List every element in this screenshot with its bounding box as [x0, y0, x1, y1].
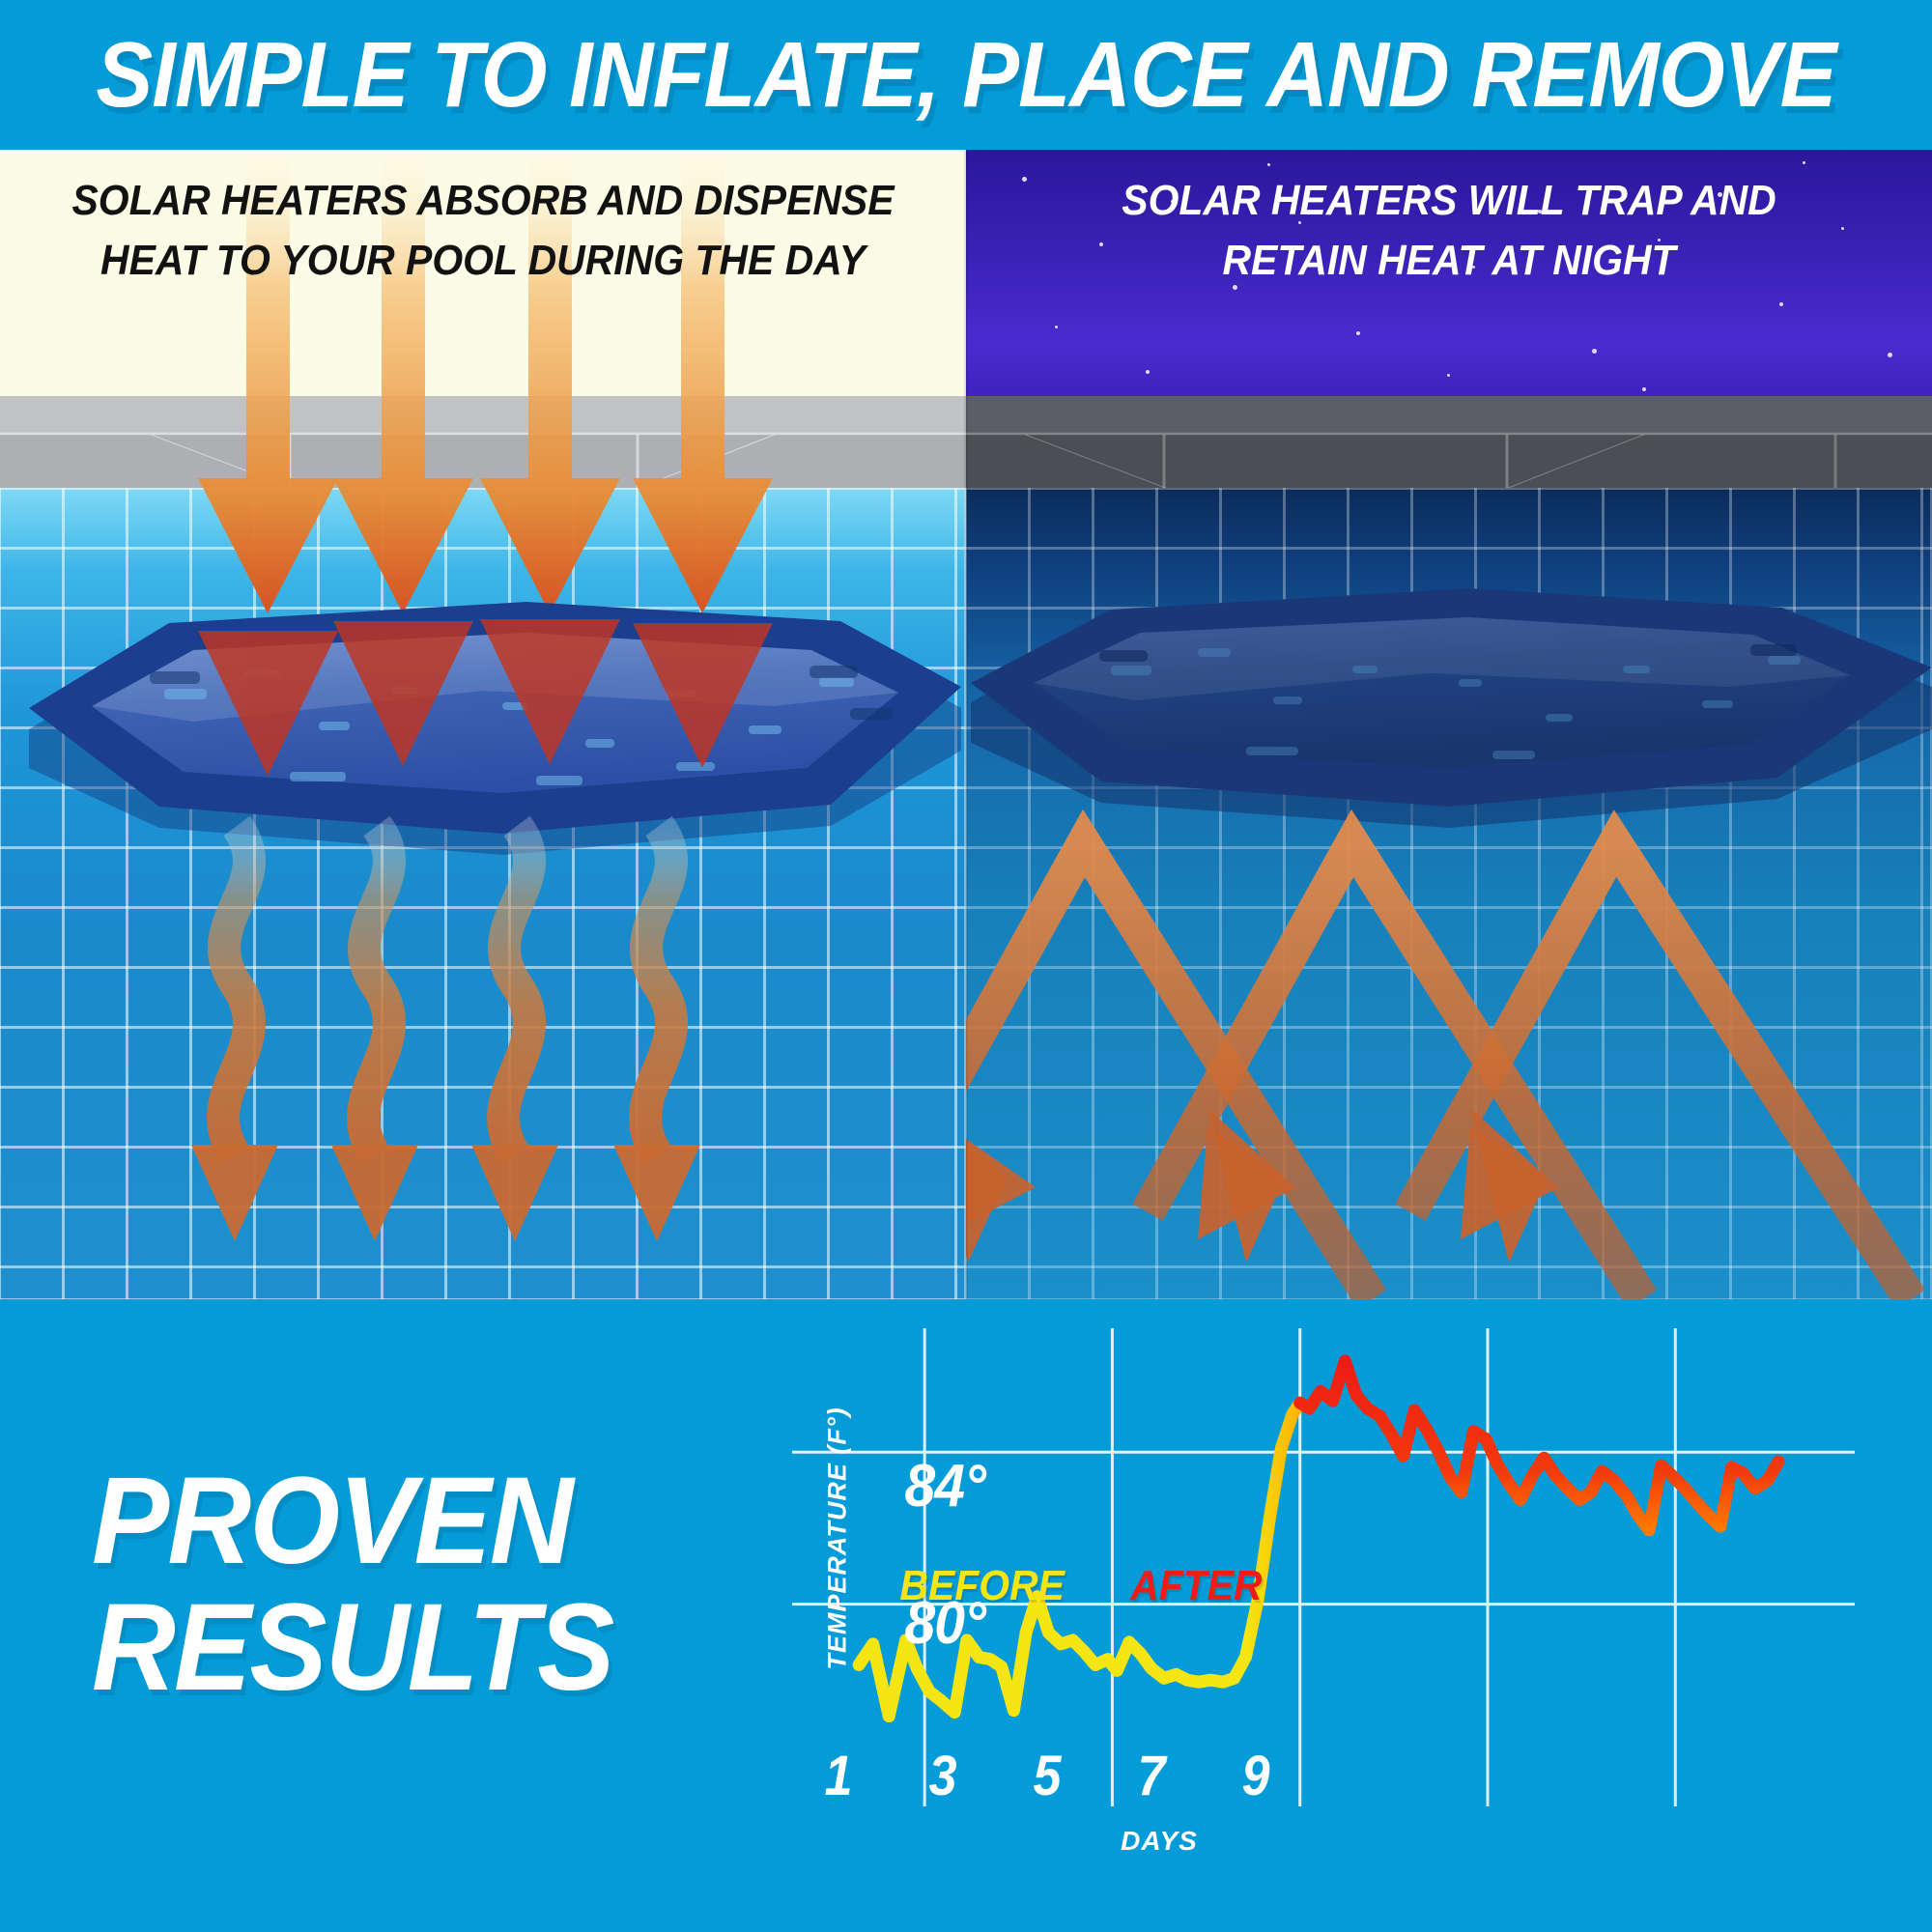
night-caption: SOLAR HEATERS WILL TRAP AND RETAIN HEAT … — [1000, 171, 1898, 292]
headline-line2: RESULTS — [92, 1585, 727, 1712]
page-title: SIMPLE TO INFLATE, PLACE AND REMOVE — [96, 22, 1835, 128]
x-tick-7: 7 — [1117, 1744, 1186, 1808]
y-axis-title: TEMPERATURE (F°) — [823, 1379, 853, 1698]
trapped-heat-bounce-arrows — [966, 843, 1911, 1299]
series-label-after: AFTER — [1130, 1562, 1262, 1610]
day-graphics-overlay — [0, 150, 966, 1299]
night-caption-line2: RETAIN HEAT AT NIGHT — [1222, 237, 1675, 284]
pool-illustration: SOLAR HEATERS ABSORB AND DISPENSE HEAT T… — [0, 150, 1932, 1299]
night-graphics-overlay — [966, 150, 1932, 1299]
day-caption-line2: HEAT TO YOUR POOL DURING THE DAY — [100, 237, 866, 284]
y-tick-84: 84° — [781, 1452, 985, 1520]
night-caption-line1: SOLAR HEATERS WILL TRAP AND — [1122, 177, 1776, 224]
x-tick-5: 5 — [1012, 1744, 1082, 1808]
day-panel: SOLAR HEATERS ABSORB AND DISPENSE HEAT T… — [0, 150, 966, 1299]
chart-series — [859, 1361, 1778, 1717]
panel-divider — [964, 150, 968, 1299]
day-caption-line1: SOLAR HEATERS ABSORB AND DISPENSE — [71, 177, 894, 224]
series-line-after — [1300, 1361, 1778, 1530]
heat-dispense-wavy-arrows — [191, 826, 700, 1241]
x-tick-3: 3 — [908, 1744, 978, 1808]
x-tick-9: 9 — [1221, 1744, 1291, 1808]
proven-results-panel: PROVEN RESULTS — [0, 1299, 1932, 1932]
day-caption: SOLAR HEATERS ABSORB AND DISPENSE HEAT T… — [34, 171, 932, 292]
series-label-before: BEFORE — [899, 1562, 1065, 1610]
header-banner: SIMPLE TO INFLATE, PLACE AND REMOVE — [0, 0, 1932, 150]
headline-line1: PROVEN — [92, 1452, 572, 1590]
solar-cover-night — [971, 588, 1932, 828]
night-panel: SOLAR HEATERS WILL TRAP AND RETAIN HEAT … — [966, 150, 1932, 1299]
night-deck-seams — [966, 434, 1932, 488]
x-tick-1: 1 — [804, 1744, 873, 1808]
infographic-root: SIMPLE TO INFLATE, PLACE AND REMOVE — [0, 0, 1932, 1932]
x-axis-title: DAYS — [1034, 1826, 1285, 1857]
proven-results-headline: PROVEN RESULTS — [92, 1459, 727, 1711]
temperature-chart: 84° 80° TEMPERATURE (F°) 1 3 5 7 9 DAYS … — [792, 1299, 1932, 1932]
